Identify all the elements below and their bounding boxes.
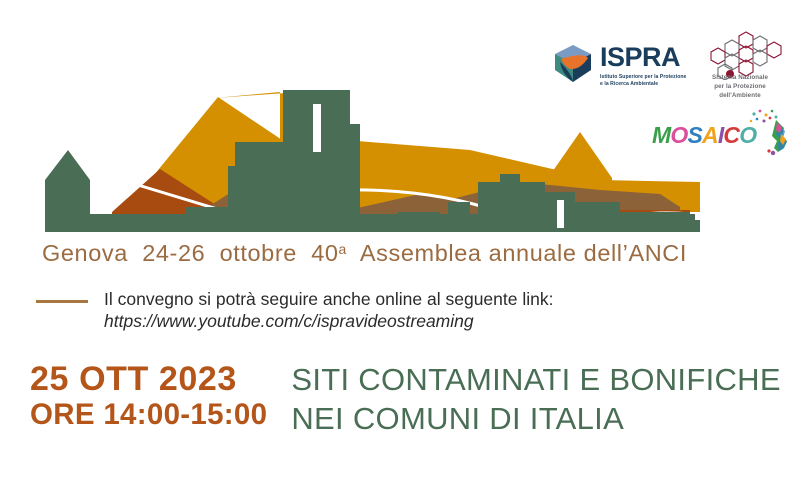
ispra-logo: ISPRA Istituto Superiore per la Protezio… — [552, 42, 686, 88]
session-title-line1: SITI CONTAMINATI E BONIFICHE — [291, 360, 781, 399]
mosaico-letter: S — [687, 124, 702, 147]
ispra-subtitle-line2: e la Ricerca Ambientale — [600, 81, 686, 88]
session-time: ORE 14:00-15:00 — [30, 399, 267, 431]
green-block-l1 — [130, 214, 175, 232]
mosaico-wordmark: MOSAICO — [652, 124, 756, 147]
green-block-r5 — [500, 174, 520, 232]
snpa-line3: dell'Ambiente — [688, 92, 792, 101]
session-when: 25 OTT 2023 ORE 14:00-15:00 — [30, 358, 267, 431]
mosaico-logo: MOSAICO — [652, 108, 792, 160]
event-city: Genova — [42, 240, 128, 266]
ispra-wordmark: ISPRA — [600, 44, 686, 71]
ispra-subtitle-line1: Istituto Superiore per la Protezione — [600, 74, 686, 81]
snpa-hexagon-network-icon — [682, 30, 794, 80]
green-central-mass — [228, 166, 360, 232]
mosaico-letter: O — [670, 124, 687, 147]
green-block-r6 — [575, 202, 620, 232]
ispra-subtitle: Istituto Superiore per la Protezione e l… — [600, 74, 686, 88]
event-dates: 24-26 — [142, 240, 205, 266]
mosaico-letter: C — [723, 124, 739, 147]
streaming-notice: Il convegno si potrà seguire anche onlin… — [104, 288, 553, 310]
session-topic: SITI CONTAMINATI E BONIFICHE NEI COMUNI … — [291, 358, 781, 438]
event-month: ottobre — [220, 240, 297, 266]
snpa-line2: per la Protezione — [688, 83, 792, 92]
event-headline: Genova 24-26 ottobre 40a Assemblea annua… — [42, 240, 687, 267]
green-block-r1 — [398, 212, 440, 232]
logo-bar: ISPRA Istituto Superiore per la Protezio… — [540, 0, 800, 160]
event-edition-number: 40 — [311, 240, 338, 266]
snpa-text: Sistema Nazionale per la Protezione dell… — [688, 74, 792, 101]
green-block-r2 — [448, 202, 470, 232]
green-block-far-right — [660, 220, 700, 232]
mosaico-italy-map-icon — [746, 108, 792, 156]
streaming-url[interactable]: https://www.youtube.com/c/ispravideostre… — [104, 310, 553, 332]
mosaico-letter: A — [702, 124, 718, 147]
snpa-line1: Sistema Nazionale — [688, 74, 792, 83]
ispra-mark-icon — [552, 42, 594, 84]
window-slit-right — [557, 200, 564, 228]
snpa-logo: Sistema Nazionale per la Protezione dell… — [682, 30, 794, 102]
window-slit-tower — [313, 104, 321, 152]
session-row: 25 OTT 2023 ORE 14:00-15:00 SITI CONTAMI… — [30, 358, 800, 438]
event-assembly: Assemblea annuale dell’ANCI — [360, 240, 687, 266]
streaming-block: Il convegno si potrà seguire anche onlin… — [36, 288, 553, 333]
mosaico-letter: M — [652, 124, 670, 147]
streaming-rule — [36, 300, 88, 303]
event-edition-suffix: a — [339, 241, 347, 257]
session-date: 25 OTT 2023 — [30, 362, 267, 397]
session-title-line2: NEI COMUNI DI ITALIA — [291, 399, 781, 438]
